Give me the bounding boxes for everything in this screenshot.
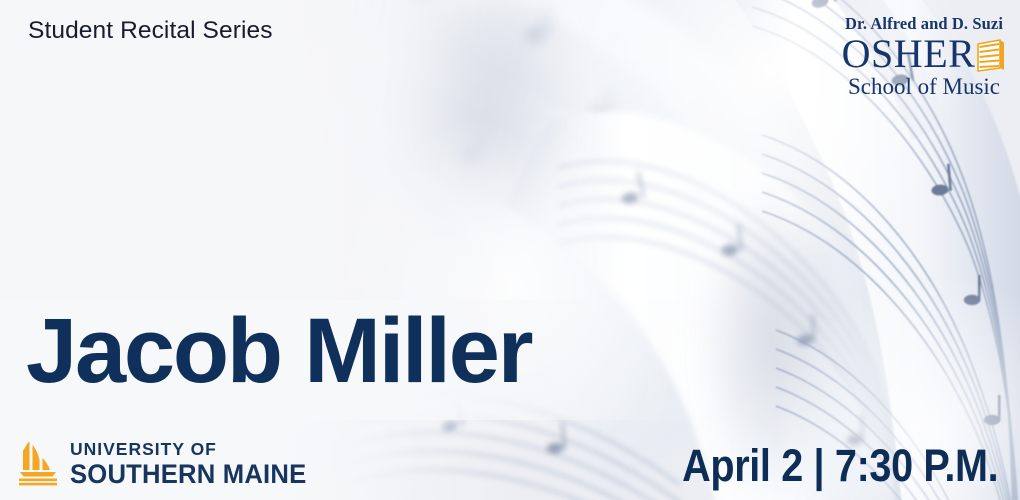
- osher-school-of-music-logo[interactable]: Dr. Alfred and D. Suzi OSHER School of M…: [840, 16, 1008, 98]
- usm-logo-line-2: SOUTHERN MAINE: [70, 461, 306, 488]
- performer-name: Jacob Miller: [26, 305, 531, 397]
- usm-logo-line-1: UNIVERSITY OF: [70, 441, 319, 459]
- osher-logo-wordmark: OSHER: [842, 34, 976, 74]
- osher-book-staff-icon: [976, 38, 1006, 72]
- university-of-southern-maine-logo[interactable]: UNIVERSITY OF SOUTHERN MAINE: [16, 441, 319, 489]
- event-datetime: April 2 | 7:30 P.M.: [682, 443, 998, 488]
- osher-logo-wordmark-row: OSHER: [840, 34, 1008, 74]
- usm-sail-mark-icon: [16, 441, 60, 487]
- background-shadow-left: [380, 0, 580, 260]
- recital-poster: Student Recital Series Jacob Miller Apri…: [0, 0, 1020, 500]
- series-label: Student Recital Series: [28, 17, 273, 45]
- usm-logo-wordmark: UNIVERSITY OF SOUTHERN MAINE: [70, 441, 319, 489]
- osher-logo-school-line: School of Music: [840, 75, 1008, 98]
